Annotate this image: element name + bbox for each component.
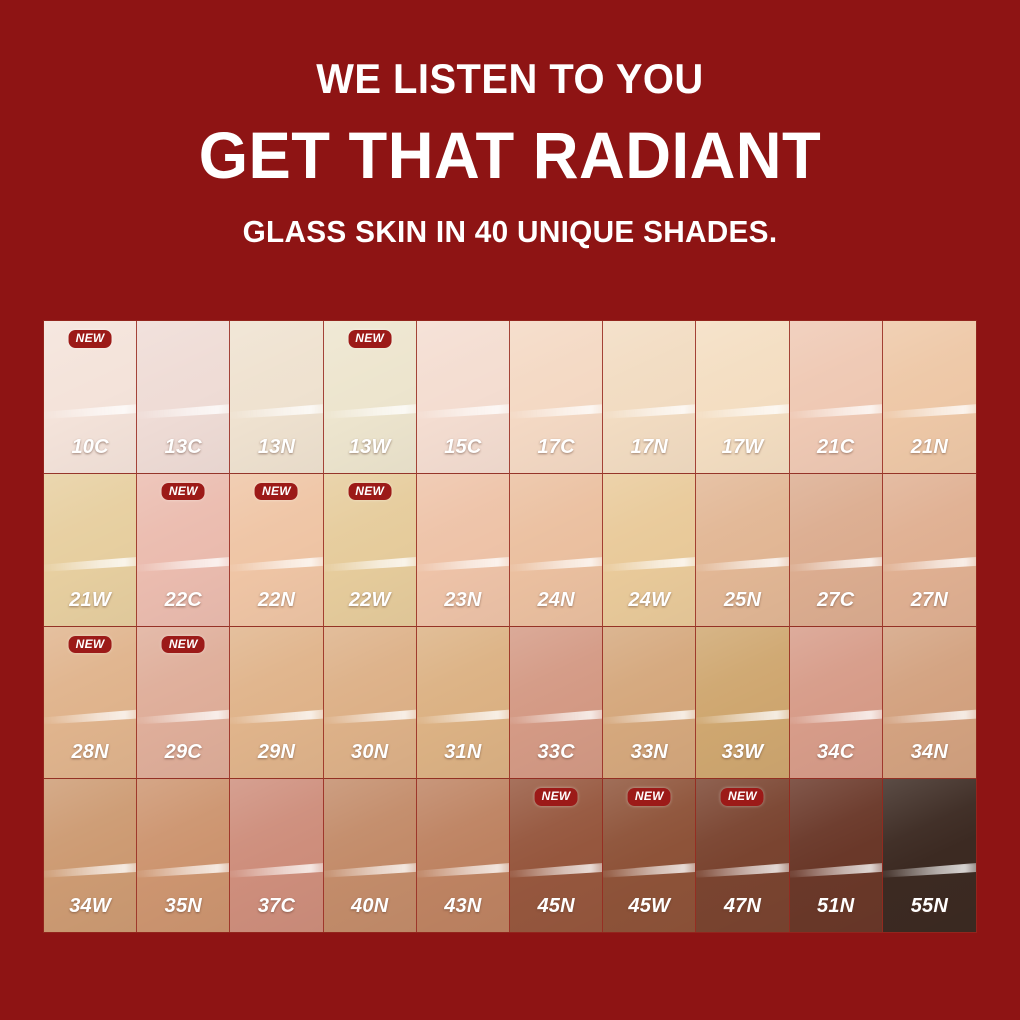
swatch-gloss-streak [883, 708, 976, 724]
shade-label: 55N [883, 895, 976, 918]
headline-line-2: GET THAT RADIANT [20, 122, 999, 188]
shade-swatch[interactable]: 25N [696, 474, 789, 627]
shade-label: 43N [417, 895, 509, 918]
swatch-gloss-streak [603, 708, 696, 724]
swatch-gloss-streak [137, 708, 230, 724]
swatch-gloss-streak [44, 862, 137, 878]
swatch-gloss-streak [510, 862, 603, 878]
swatch-gloss-streak [230, 403, 323, 419]
shade-label: 34W [44, 895, 136, 918]
new-badge: NEW [721, 788, 764, 806]
swatch-gloss-streak [883, 556, 976, 572]
swatch-gloss-streak [44, 708, 137, 724]
shade-swatch[interactable]: NEW29C [137, 627, 230, 780]
shade-label: 35N [137, 895, 229, 918]
shade-label: 13N [230, 436, 322, 459]
shade-swatch[interactable]: NEW22N [230, 474, 323, 627]
shade-label: 23N [417, 589, 509, 612]
shade-swatch[interactable]: 34N [883, 627, 976, 780]
swatch-gloss-streak [137, 862, 230, 878]
shade-label: 15C [417, 436, 509, 459]
shade-swatch[interactable]: 13N [230, 321, 323, 474]
shade-label: 24W [603, 589, 695, 612]
swatch-gloss-streak [324, 556, 417, 572]
shade-label: 45N [510, 895, 602, 918]
swatch-gloss-streak [230, 862, 323, 878]
shade-grid: NEW10C13C13NNEW13W15C17C17N17W21C21N21WN… [43, 320, 977, 933]
shade-label: 34N [883, 741, 976, 764]
shade-swatch[interactable]: 33C [510, 627, 603, 780]
shade-label: 45W [603, 895, 695, 918]
swatch-gloss-streak [230, 556, 323, 572]
shade-label: 27C [790, 589, 882, 612]
shade-label: 17N [603, 436, 695, 459]
shade-label: 27N [883, 589, 976, 612]
shade-label: 21N [883, 436, 976, 459]
swatch-gloss-streak [137, 403, 230, 419]
swatch-gloss-streak [44, 403, 137, 419]
shade-label: 47N [696, 895, 788, 918]
shade-swatch[interactable]: NEW22W [324, 474, 417, 627]
shade-swatch[interactable]: 21N [883, 321, 976, 474]
shade-label: 25N [696, 589, 788, 612]
new-badge: NEW [348, 483, 391, 501]
swatch-gloss-streak [696, 403, 789, 419]
shade-label: 24N [510, 589, 602, 612]
swatch-gloss-streak [603, 556, 696, 572]
shade-swatch[interactable]: NEW47N [696, 779, 789, 932]
shade-label: 13W [324, 436, 416, 459]
shade-swatch[interactable]: 37C [230, 779, 323, 932]
shade-swatch[interactable]: NEW13W [324, 321, 417, 474]
shade-swatch[interactable]: 29N [230, 627, 323, 780]
swatch-gloss-streak [790, 708, 883, 724]
shade-swatch[interactable]: 17C [510, 321, 603, 474]
swatch-gloss-streak [790, 556, 883, 572]
shade-swatch[interactable]: 15C [417, 321, 510, 474]
shade-swatch[interactable]: 35N [137, 779, 230, 932]
swatch-gloss-streak [324, 708, 417, 724]
headline-line-1: WE LISTEN TO YOU [26, 58, 995, 100]
shade-label: 22W [324, 589, 416, 612]
shade-swatch[interactable]: 34C [790, 627, 883, 780]
swatch-gloss-streak [417, 708, 510, 724]
shade-label: 34C [790, 741, 882, 764]
shade-label: 31N [417, 741, 509, 764]
shade-label: 51N [790, 895, 882, 918]
shade-swatch[interactable]: NEW10C [44, 321, 137, 474]
shade-swatch[interactable]: 17W [696, 321, 789, 474]
new-badge: NEW [69, 636, 112, 654]
shade-label: 28N [44, 741, 136, 764]
swatch-gloss-streak [230, 708, 323, 724]
swatch-gloss-streak [790, 403, 883, 419]
swatch-gloss-streak [883, 403, 976, 419]
shade-swatch[interactable]: 30N [324, 627, 417, 780]
shade-label: 30N [324, 741, 416, 764]
shade-label: 33W [696, 741, 788, 764]
shade-label: 33N [603, 741, 695, 764]
swatch-gloss-streak [417, 556, 510, 572]
shade-swatch[interactable]: 40N [324, 779, 417, 932]
swatch-gloss-streak [603, 862, 696, 878]
shade-swatch[interactable]: 23N [417, 474, 510, 627]
new-badge: NEW [348, 330, 391, 348]
new-badge: NEW [255, 483, 298, 501]
new-badge: NEW [162, 483, 205, 501]
swatch-gloss-streak [510, 556, 603, 572]
shade-swatch[interactable]: 21C [790, 321, 883, 474]
shade-swatch[interactable]: 43N [417, 779, 510, 932]
shade-label: 21C [790, 436, 882, 459]
headline-block: WE LISTEN TO YOU GET THAT RADIANT GLASS … [0, 0, 1020, 247]
shade-swatch[interactable]: 17N [603, 321, 696, 474]
swatch-gloss-streak [790, 862, 883, 878]
swatch-gloss-streak [883, 862, 976, 878]
swatch-gloss-streak [603, 403, 696, 419]
shade-swatch[interactable]: 55N [883, 779, 976, 932]
new-badge: NEW [535, 788, 578, 806]
shade-swatch[interactable]: NEW45N [510, 779, 603, 932]
shade-swatch[interactable]: 33N [603, 627, 696, 780]
shade-swatch[interactable]: 27C [790, 474, 883, 627]
swatch-gloss-streak [324, 862, 417, 878]
shade-label: 17C [510, 436, 602, 459]
swatch-gloss-streak [44, 556, 137, 572]
shade-swatch[interactable]: 27N [883, 474, 976, 627]
shade-swatch[interactable]: 33W [696, 627, 789, 780]
shade-swatch[interactable]: 34W [44, 779, 137, 932]
shade-swatch[interactable]: 21W [44, 474, 137, 627]
shade-label: 13C [137, 436, 229, 459]
shade-swatch[interactable]: NEW28N [44, 627, 137, 780]
shade-label: 22C [137, 589, 229, 612]
shade-label: 17W [696, 436, 788, 459]
shade-label: 10C [44, 436, 136, 459]
swatch-gloss-streak [696, 862, 789, 878]
new-badge: NEW [628, 788, 671, 806]
swatch-gloss-streak [324, 403, 417, 419]
swatch-gloss-streak [417, 862, 510, 878]
shade-swatch[interactable]: 13C [137, 321, 230, 474]
shade-label: 29C [137, 741, 229, 764]
shade-swatch[interactable]: 51N [790, 779, 883, 932]
swatch-gloss-streak [510, 403, 603, 419]
shade-label: 33C [510, 741, 602, 764]
shade-label: 40N [324, 895, 416, 918]
swatch-gloss-streak [696, 556, 789, 572]
swatch-gloss-streak [137, 556, 230, 572]
swatch-gloss-streak [510, 708, 603, 724]
headline-line-3: GLASS SKIN IN 40 UNIQUE SHADES. [20, 216, 999, 247]
new-badge: NEW [69, 330, 112, 348]
new-badge: NEW [162, 636, 205, 654]
shade-swatch[interactable]: 24W [603, 474, 696, 627]
shade-swatch[interactable]: NEW22C [137, 474, 230, 627]
shade-label: 37C [230, 895, 322, 918]
shade-swatch[interactable]: 31N [417, 627, 510, 780]
shade-swatch[interactable]: NEW45W [603, 779, 696, 932]
swatch-gloss-streak [696, 708, 789, 724]
shade-label: 22N [230, 589, 322, 612]
shade-swatch[interactable]: 24N [510, 474, 603, 627]
shade-label: 29N [230, 741, 322, 764]
shade-label: 21W [44, 589, 136, 612]
swatch-gloss-streak [417, 403, 510, 419]
